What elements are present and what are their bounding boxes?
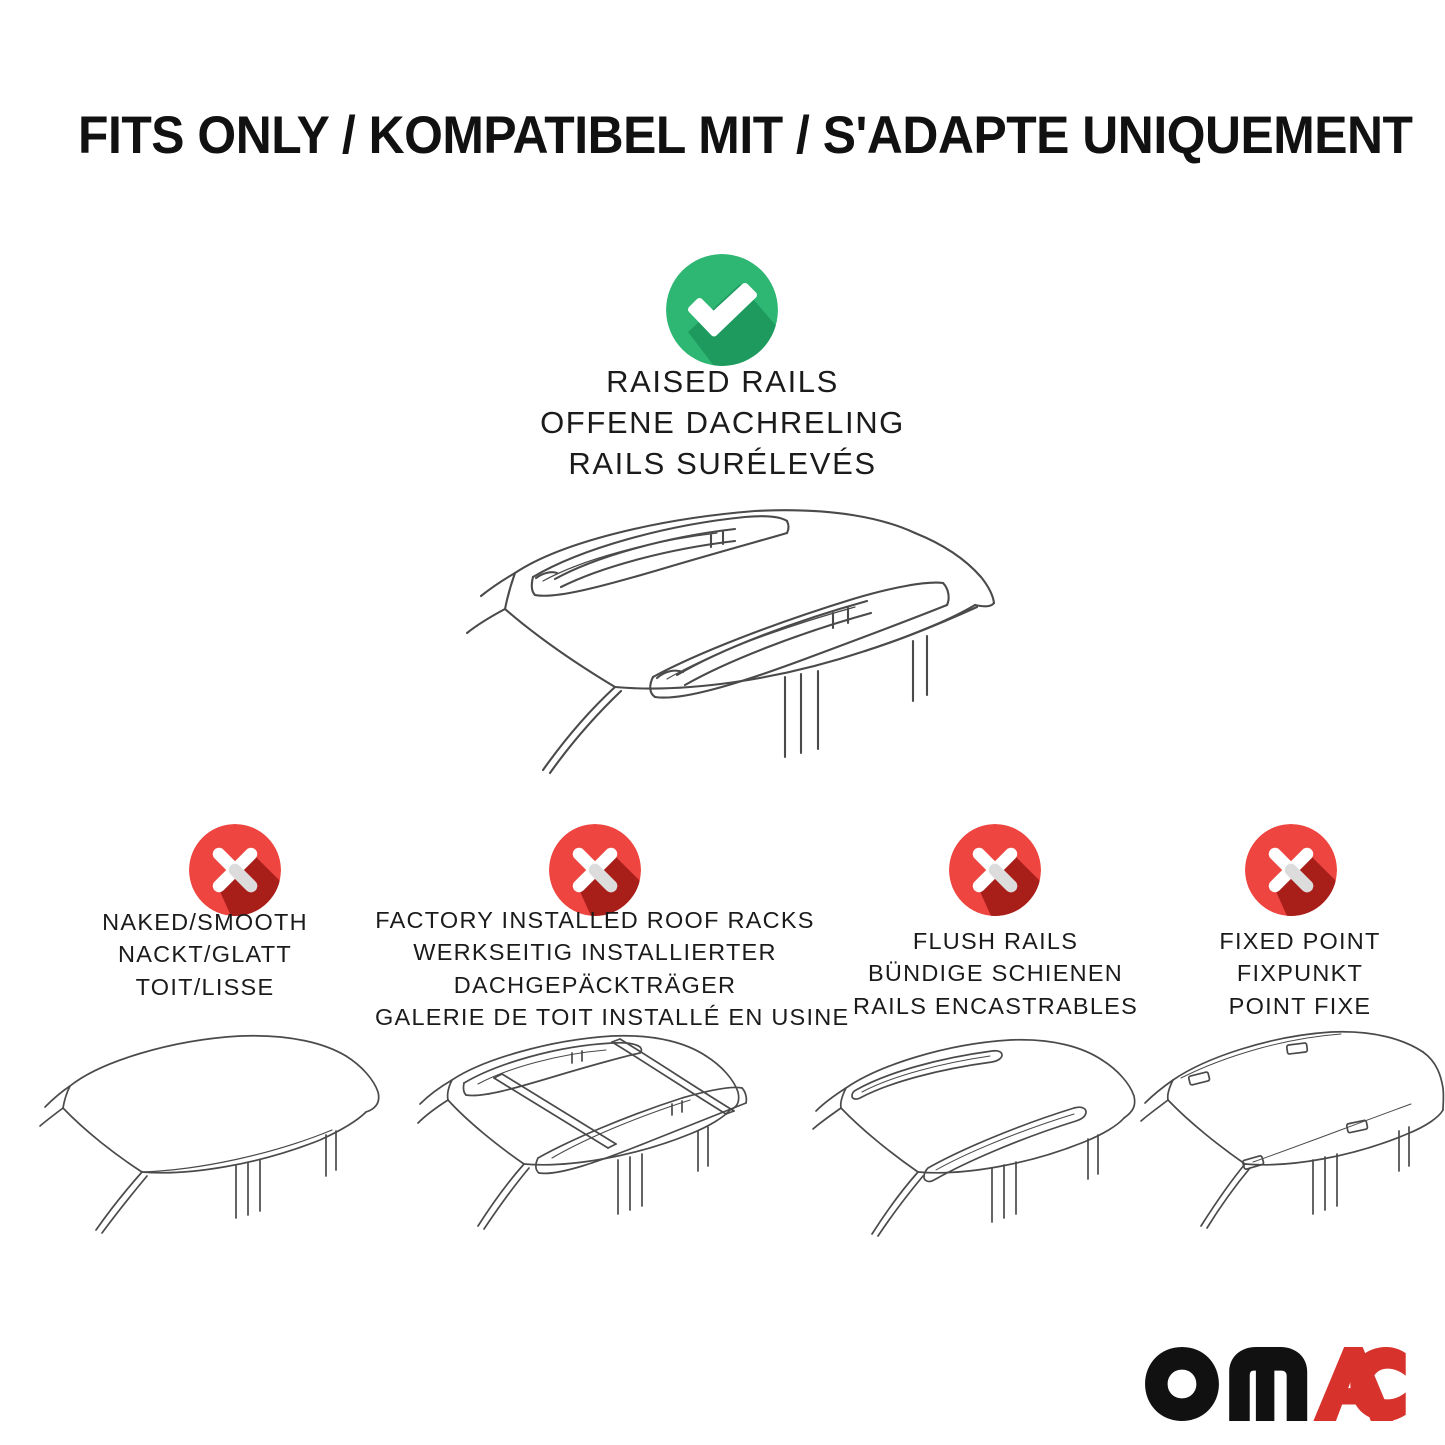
cross-circle-icon [189, 824, 281, 916]
incompatible-label-en: FIXED POINT [1150, 925, 1445, 957]
cross-circle-icon [1245, 824, 1337, 916]
incompatible-label-de-2: DACHGEPÄCKTRÄGER [375, 969, 815, 1001]
incompatible-label-de: NACKT/GLATT [30, 938, 380, 970]
incompatible-label-de: BÜNDIGE SCHIENEN [808, 957, 1183, 989]
incompatible-labels: NAKED/SMOOTH NACKT/GLATT TOIT/LISSE [30, 906, 380, 1003]
car-roof-flush-rails-illustration [788, 1018, 1158, 1240]
incompatible-column-fixed-point: FIXED POINT FIXPUNKT POINT FIXE [1160, 0, 1440, 1445]
omac-logo [1143, 1345, 1410, 1423]
incompatible-label-en: FACTORY INSTALLED ROOF RACKS [375, 904, 815, 936]
incompatible-labels: FACTORY INSTALLED ROOF RACKS WERKSEITIG … [375, 904, 815, 1034]
incompatible-label-de-1: WERKSEITIG INSTALLIERTER [375, 936, 815, 968]
car-roof-factory-roof-rack-illustration [390, 1018, 760, 1248]
incompatible-label-en: NAKED/SMOOTH [30, 906, 380, 938]
incompatible-column-naked-smooth: NAKED/SMOOTH NACKT/GLATT TOIT/LISSE [30, 0, 380, 1445]
incompatible-label-fr: TOIT/LISSE [30, 971, 380, 1003]
incompatible-column-flush-rails: FLUSH RAILS BÜNDIGE SCHIENEN RAILS ENCAS… [818, 0, 1173, 1445]
incompatible-label-en: FLUSH RAILS [808, 925, 1183, 957]
incompatible-labels: FLUSH RAILS BÜNDIGE SCHIENEN RAILS ENCAS… [808, 925, 1183, 1022]
cross-circle-icon [549, 824, 641, 916]
incompatible-labels: FIXED POINT FIXPUNKT POINT FIXE [1150, 925, 1445, 1022]
car-roof-fixed-point-illustration [1135, 1018, 1445, 1240]
cross-circle-icon [949, 824, 1041, 916]
incompatible-column-factory-roof-racks: FACTORY INSTALLED ROOF RACKS WERKSEITIG … [375, 0, 815, 1445]
incompatible-label-de: FIXPUNKT [1150, 957, 1445, 989]
car-roof-naked-smooth-illustration [30, 1018, 380, 1238]
infographic-root: FITS ONLY / KOMPATIBEL MIT / S'ADAPTE UN… [0, 0, 1445, 1445]
